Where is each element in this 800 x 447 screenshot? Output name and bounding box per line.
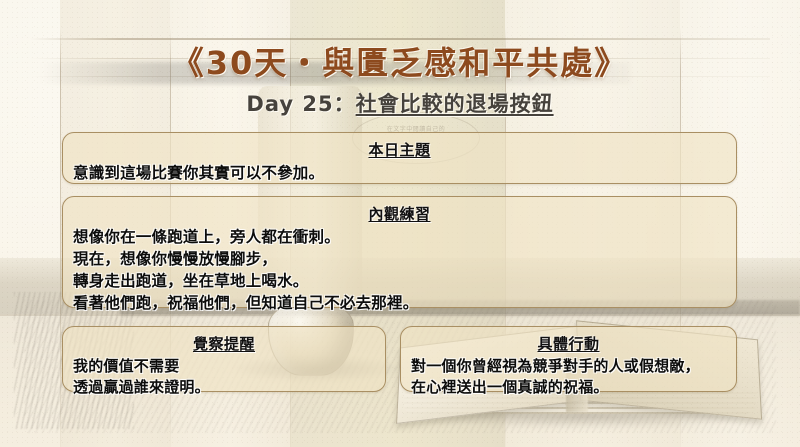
text-line: 現在，想像你慢慢放慢腳步， [73, 248, 726, 270]
text-line: 透過贏過誰來證明。 [73, 377, 375, 398]
card-heading-daily-topic: 本日主題 [73, 139, 726, 160]
card-concrete-action: 具體行動 對一個你曾經視為競爭對手的人或假想敵， 在心裡送出一個真誠的祝福。 [400, 326, 737, 392]
text-line: 在心裡送出一個真誠的祝福。 [411, 377, 726, 398]
poster-title: 《30天・與匱乏感和平共處》 [0, 38, 800, 84]
card-body-concrete-action: 對一個你曾經視為競爭對手的人或假想敵， 在心裡送出一個真誠的祝福。 [411, 356, 726, 398]
card-body-daily-topic: 意識到這場比賽你其實可以不參加。 [73, 162, 726, 184]
text-line: 想像你在一條跑道上，旁人都在衝刺。 [73, 226, 726, 248]
text-line: 轉身走出跑道，坐在草地上喝水。 [73, 270, 726, 292]
poster-canvas: 在文字中閱讀自己的 《30天・與匱乏感和平共處》 Day 25：社會比較的退場按… [0, 0, 800, 447]
text-line: 看著他們跑，祝福他們，但知道自己不必去那裡。 [73, 292, 726, 314]
card-awareness-reminder: 覺察提醒 我的價值不需要 透過贏過誰來證明。 [62, 326, 386, 392]
card-insight-practice: 內觀練習 想像你在一條跑道上，旁人都在衝刺。 現在，想像你慢慢放慢腳步， 轉身走… [62, 196, 737, 308]
subtitle-topic: 社會比較的退場按鈕 [356, 92, 554, 116]
subtitle-day-prefix: Day 25： [246, 92, 355, 116]
card-heading-concrete-action: 具體行動 [411, 333, 726, 354]
text-line: 意識到這場比賽你其實可以不參加。 [73, 162, 726, 184]
card-body-insight-practice: 想像你在一條跑道上，旁人都在衝刺。 現在，想像你慢慢放慢腳步， 轉身走出跑道，坐… [73, 226, 726, 314]
text-line: 我的價值不需要 [73, 356, 375, 377]
card-heading-awareness-reminder: 覺察提醒 [73, 333, 375, 354]
card-heading-insight-practice: 內觀練習 [73, 203, 726, 224]
card-daily-topic: 本日主題 意識到這場比賽你其實可以不參加。 [62, 132, 737, 184]
card-body-awareness-reminder: 我的價值不需要 透過贏過誰來證明。 [73, 356, 375, 398]
poster-content: 《30天・與匱乏感和平共處》 Day 25：社會比較的退場按鈕 本日主題 意識到… [0, 0, 800, 447]
text-line: 對一個你曾經視為競爭對手的人或假想敵， [411, 356, 726, 377]
poster-subtitle: Day 25：社會比較的退場按鈕 [0, 88, 800, 118]
